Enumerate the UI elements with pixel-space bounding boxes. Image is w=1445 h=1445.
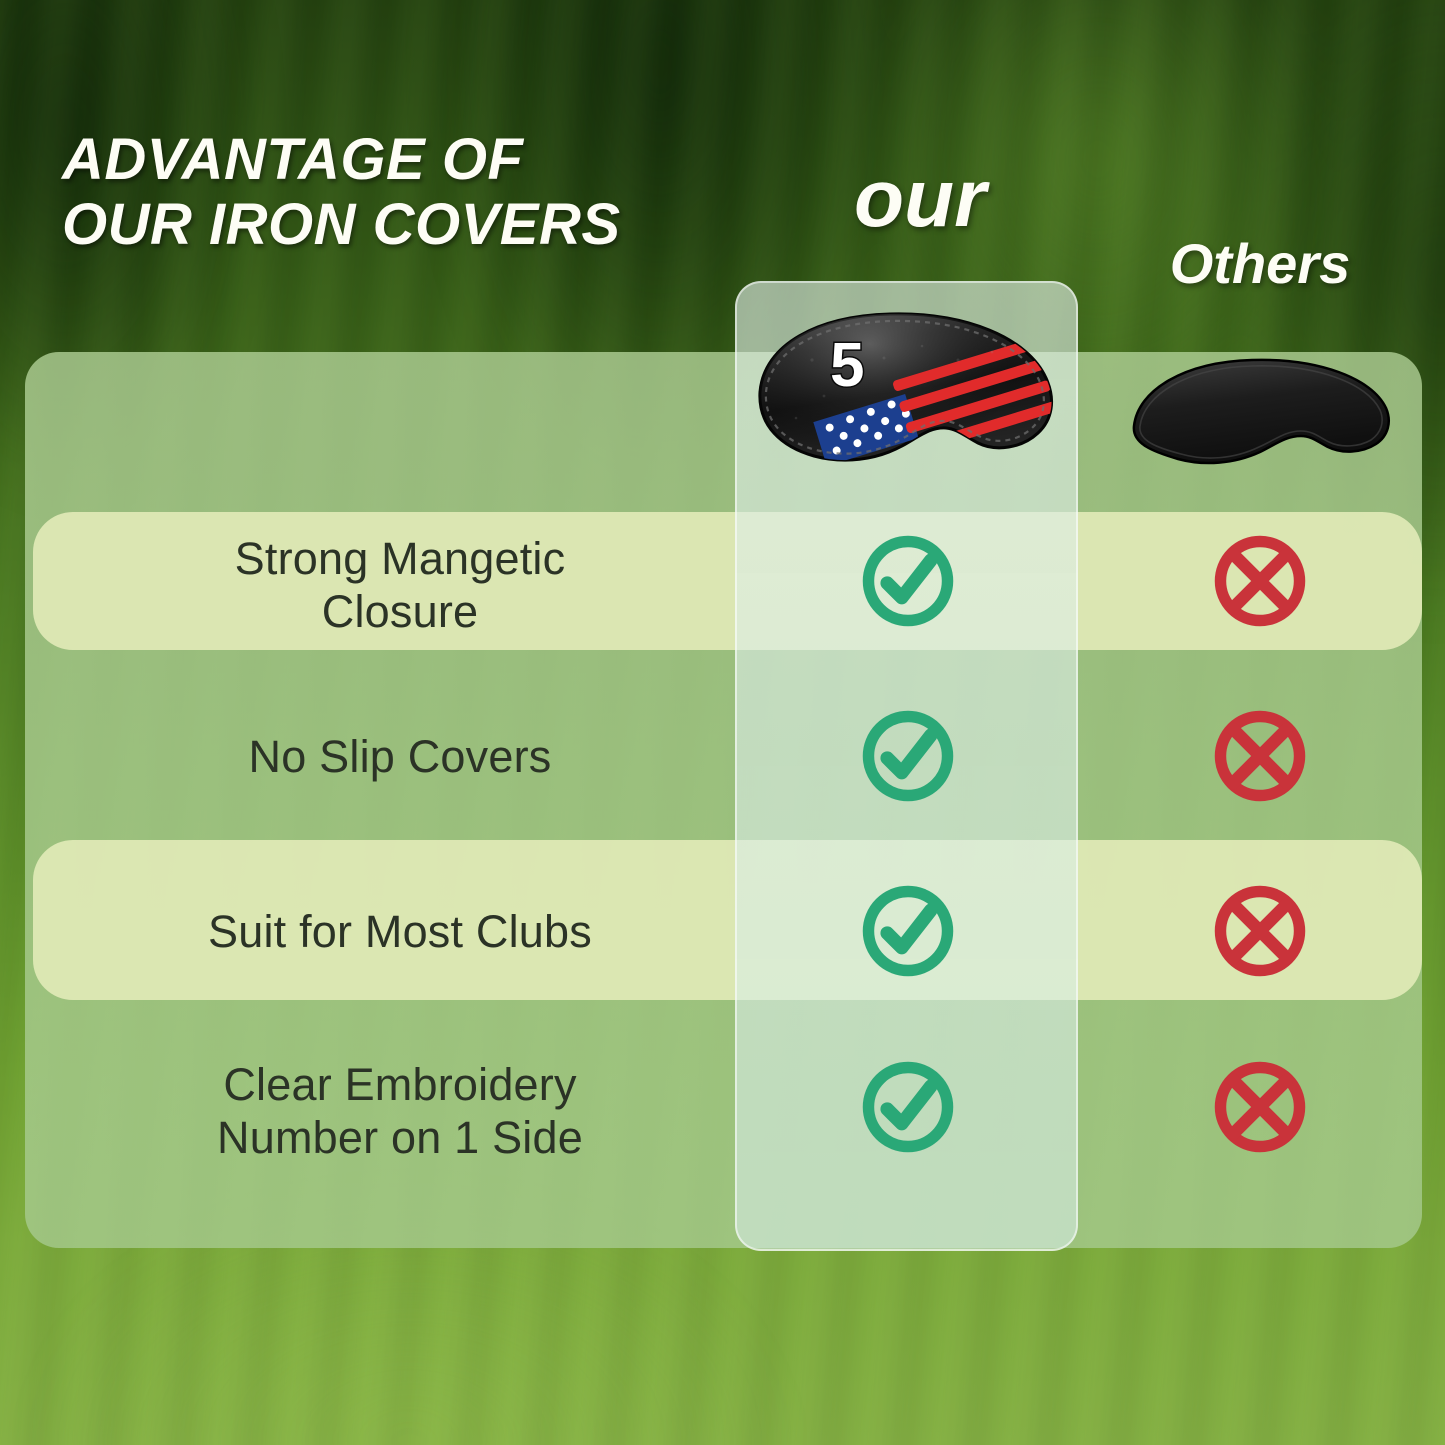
feature-label-row-3: Suit for Most Clubs <box>70 905 730 958</box>
feature-row-4-line-2: Number on 1 Side <box>217 1112 583 1163</box>
feature-row-1-line-1: Strong Mangetic <box>235 533 566 584</box>
embroidered-number: 5 <box>830 331 864 400</box>
title-line-1: ADVANTAGE OF <box>62 127 523 192</box>
check-circle-icon <box>856 704 960 808</box>
cross-circle-icon <box>1208 529 1312 633</box>
cross-circle-icon <box>1208 879 1312 983</box>
infographic-canvas: ADVANTAGE OF OUR IRON COVERS our Others <box>0 0 1445 1445</box>
feature-row-2-line-1: No Slip Covers <box>249 731 552 782</box>
page-title: ADVANTAGE OF OUR IRON COVERS <box>62 128 762 258</box>
column-header-ours: our <box>800 158 1040 240</box>
check-circle-icon <box>856 529 960 633</box>
title-line-2: OUR IRON COVERS <box>62 193 762 258</box>
check-circle-icon <box>856 879 960 983</box>
feature-row-1-line-2: Closure <box>322 586 478 637</box>
feature-label-row-2: No Slip Covers <box>70 730 730 783</box>
feature-row-3-line-1: Suit for Most Clubs <box>208 906 592 957</box>
cross-circle-icon <box>1208 1055 1312 1159</box>
check-circle-icon <box>856 1055 960 1159</box>
product-image-others <box>1128 352 1396 482</box>
feature-label-row-4: Clear Embroidery Number on 1 Side <box>70 1058 730 1164</box>
feature-label-row-1: Strong Mangetic Closure <box>70 532 730 638</box>
column-header-others: Others <box>1110 236 1410 292</box>
feature-row-4-line-1: Clear Embroidery <box>223 1059 576 1110</box>
product-image-ours: 5 <box>752 300 1062 500</box>
cross-circle-icon <box>1208 704 1312 808</box>
